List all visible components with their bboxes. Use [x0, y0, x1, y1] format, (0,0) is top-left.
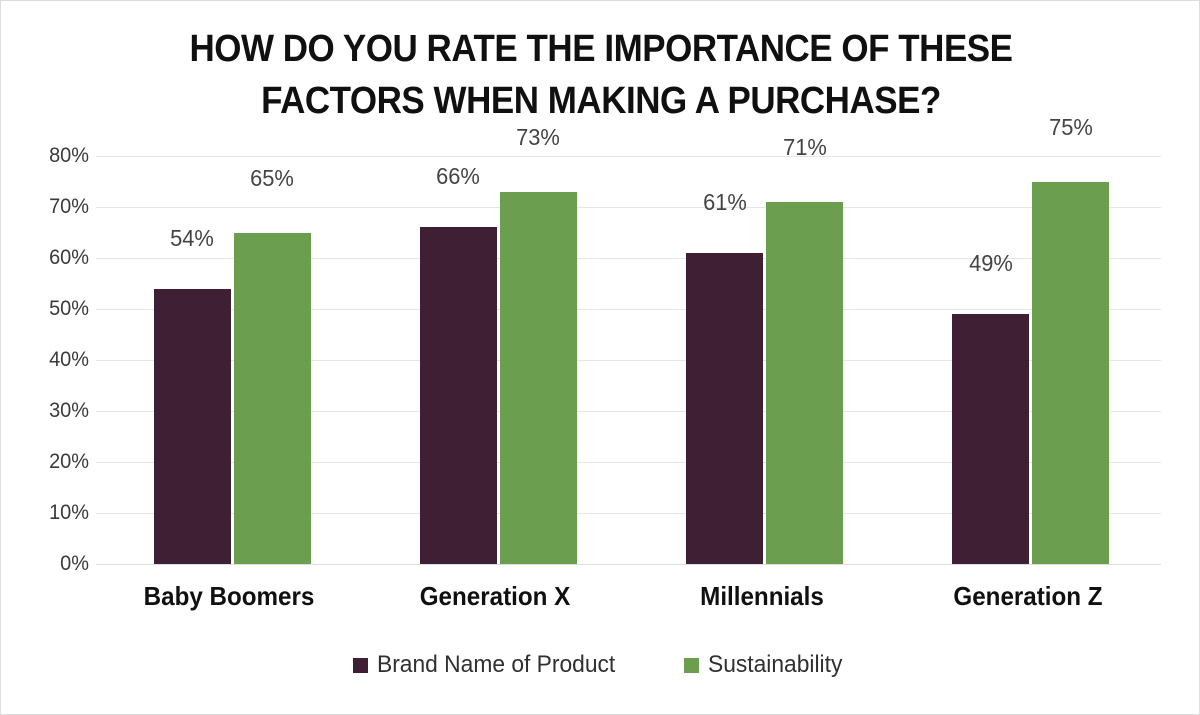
x-axis-tick-label: Millennials: [659, 581, 864, 612]
bar-group-generation-x: 66%73%: [420, 156, 577, 564]
bar-baby-boomers-sustainability: 65%: [234, 233, 311, 565]
bar-value-label: 61%: [703, 189, 747, 222]
y-axis-tick-label: 70%: [21, 195, 89, 219]
y-axis-tick-label: 10%: [21, 501, 89, 525]
bar-value-label: 66%: [437, 163, 481, 196]
bar-fill: [154, 289, 231, 564]
legend-item-brand-name-of-product[interactable]: Brand Name of Product: [353, 651, 628, 679]
y-axis-tick-label: 50%: [21, 297, 89, 321]
bar-group-generation-z: 49%75%: [952, 156, 1109, 564]
chart-title: HOW DO YOU RATE THE IMPORTANCE OF THESE …: [104, 23, 1098, 127]
plot-area: 54%65%66%73%61%71%49%75%: [96, 156, 1161, 564]
bar-fill: [1032, 182, 1109, 565]
bar-fill: [766, 202, 843, 564]
legend-label: Brand Name of Product: [377, 651, 615, 679]
legend-item-sustainability[interactable]: Sustainability: [684, 651, 849, 679]
x-axis-tick-label: Generation Z: [926, 581, 1131, 612]
bar-baby-boomers-brand-name-of-product: 54%: [154, 289, 231, 564]
bar-fill: [952, 314, 1029, 564]
bar-generation-z-brand-name-of-product: 49%: [952, 314, 1029, 564]
y-axis: 80%70%60%50%40%30%20%10%0%: [9, 156, 89, 564]
bar-fill: [234, 233, 311, 565]
bar-value-label: 54%: [170, 225, 214, 258]
bar-generation-z-sustainability: 75%: [1032, 182, 1109, 565]
bar-generation-x-sustainability: 73%: [500, 192, 577, 564]
gridline: [96, 564, 1161, 565]
x-axis-tick-label: Baby Boomers: [127, 581, 332, 612]
y-axis-tick-label: 40%: [21, 348, 89, 372]
y-axis-tick-label: 80%: [21, 144, 89, 168]
bar-group-baby-boomers: 54%65%: [154, 156, 311, 564]
bar-fill: [420, 227, 497, 564]
legend-swatch-icon: [353, 658, 368, 673]
legend-label: Sustainability: [708, 651, 842, 679]
y-axis-tick-label: 0%: [21, 552, 89, 576]
legend-swatch-icon: [684, 658, 699, 673]
bar-value-label: 75%: [1049, 114, 1093, 147]
bar-value-label: 71%: [783, 134, 827, 167]
x-axis-tick-label: Generation X: [393, 581, 598, 612]
y-axis-tick-label: 60%: [21, 246, 89, 270]
bar-generation-x-brand-name-of-product: 66%: [420, 227, 497, 564]
bar-group-millennials: 61%71%: [686, 156, 843, 564]
y-axis-tick-label: 30%: [21, 399, 89, 423]
chart-legend: Brand Name of ProductSustainability: [1, 651, 1200, 679]
x-axis: Baby BoomersGeneration XMillennialsGener…: [96, 581, 1161, 621]
bar-fill: [500, 192, 577, 564]
bar-millennials-brand-name-of-product: 61%: [686, 253, 763, 564]
bar-fill: [686, 253, 763, 564]
y-axis-tick-label: 20%: [21, 450, 89, 474]
bar-value-label: 49%: [969, 250, 1013, 283]
bar-chart-figure: HOW DO YOU RATE THE IMPORTANCE OF THESE …: [0, 0, 1200, 715]
bar-millennials-sustainability: 71%: [766, 202, 843, 564]
bar-value-label: 65%: [250, 165, 294, 198]
bar-value-label: 73%: [517, 124, 561, 157]
